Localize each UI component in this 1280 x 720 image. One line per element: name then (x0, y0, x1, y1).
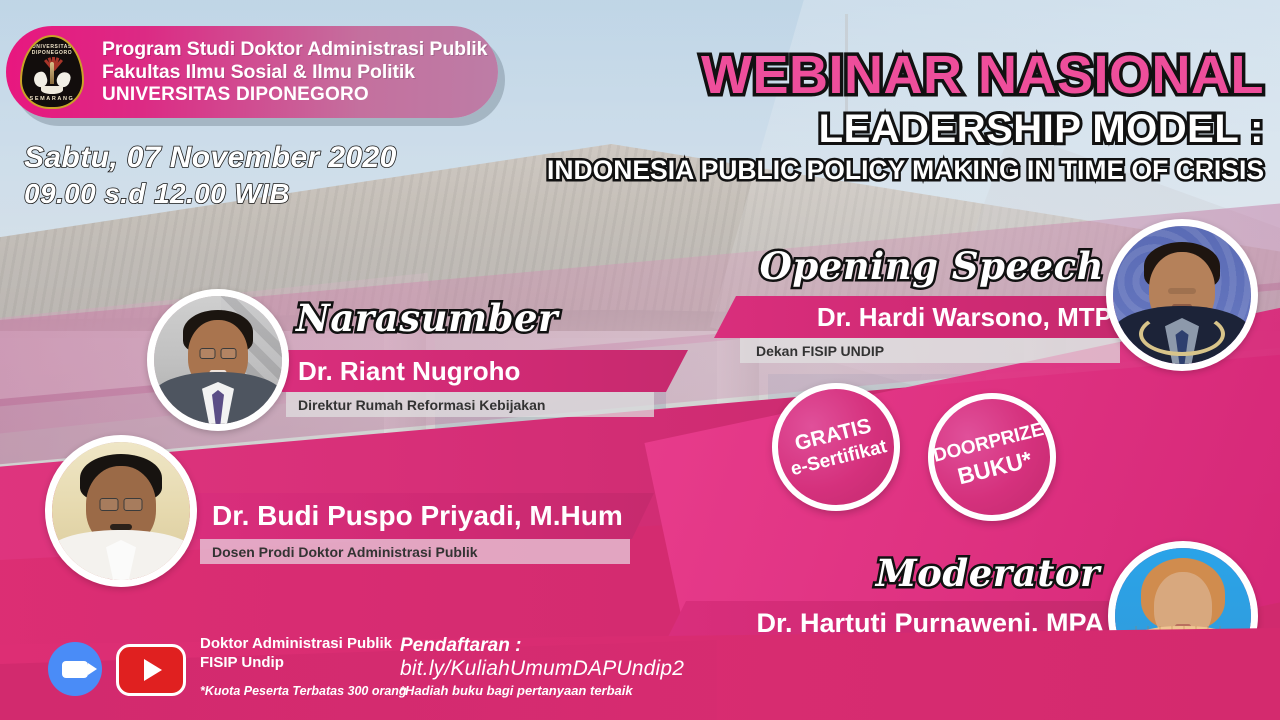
opening-speech-label: Opening Speech (760, 244, 1104, 288)
registration-link[interactable]: bit.ly/KuliahUmumDAPUndip2 (400, 657, 684, 681)
avatar-photo (52, 442, 190, 580)
logo-arc-bottom-text: SEMARANG (22, 96, 82, 102)
play-triangle-glyph (144, 659, 162, 681)
narasumber-name: Dr. Riant Nugroho (298, 356, 520, 387)
shield-icon: UNIVERSITAS DIPONEGORO SEMARANG (20, 35, 84, 109)
avatar-budi-puspo (45, 435, 197, 587)
speaker2-name: Dr. Budi Puspo Priyadi, M.Hum (212, 500, 623, 532)
undip-logo: UNIVERSITAS DIPONEGORO SEMARANG (14, 34, 90, 110)
channel-line-2: FISIP Undip (200, 654, 392, 672)
title-subtitle: INDONESIA PUBLIC POLICY MAKING IN TIME O… (547, 155, 1264, 187)
narasumber-label: Narasumber (296, 296, 558, 340)
event-date: Sabtu, 07 November 2020 (24, 140, 397, 177)
channel-line-1: Doktor Administrasi Publik (200, 635, 392, 653)
main-title: WEBINAR NASIONAL LEADERSHIP MODEL : INDO… (547, 48, 1264, 187)
registration-block: Pendaftaran : bit.ly/KuliahUmumDAPUndip2… (400, 635, 684, 698)
moderator-label: Moderator (876, 551, 1100, 595)
video-camera-glyph (62, 661, 88, 678)
narasumber-name-ribbon: Dr. Riant Nugroho (282, 350, 688, 392)
event-schedule: Sabtu, 07 November 2020 09.00 s.d 12.00 … (24, 140, 397, 211)
avatar-photo (154, 296, 282, 424)
header-line-1: Program Studi Doktor Administrasi Publik (102, 38, 487, 61)
avatar-hardi-warsono (1106, 219, 1258, 371)
speaker2-role-bar: Dosen Prodi Doktor Administrasi Publik (200, 539, 630, 564)
opening-speech-name: Dr. Hardi Warsono, MTP (817, 302, 1112, 333)
title-webinar-nasional: WEBINAR NASIONAL (547, 48, 1264, 102)
avatar-photo (1113, 226, 1251, 364)
avatar-riant-nugroho (147, 289, 289, 431)
registration-note: *Hadiah buku bagi pertanyaan terbaik (400, 683, 684, 698)
header-line-2: Fakultas Ilmu Sosial & Ilmu Politik (102, 61, 487, 84)
logo-emblem (35, 54, 69, 92)
quota-note: *Kuota Peserta Terbatas 300 orang (200, 684, 407, 698)
institution-header: UNIVERSITAS DIPONEGORO SEMARANG Program … (6, 26, 498, 118)
speaker2-name-ribbon: Dr. Budi Puspo Priyadi, M.Hum (196, 493, 654, 539)
header-line-3: UNIVERSITAS DIPONEGORO (102, 84, 487, 106)
webinar-poster: UNIVERSITAS DIPONEGORO SEMARANG Program … (0, 0, 1280, 720)
registration-title: Pendaftaran : (400, 635, 684, 657)
zoom-icon[interactable] (48, 642, 102, 696)
opening-speech-role: Dekan FISIP UNDIP (756, 343, 884, 359)
speaker2-role: Dosen Prodi Doktor Administrasi Publik (212, 544, 478, 560)
title-leadership-model: LEADERSHIP MODEL : (547, 106, 1264, 153)
channel-name: Doktor Administrasi Publik FISIP Undip (200, 635, 392, 672)
event-time: 09.00 s.d 12.00 WIB (24, 177, 397, 211)
opening-speech-name-ribbon: Dr. Hardi Warsono, MTP (714, 296, 1126, 338)
opening-speech-role-bar: Dekan FISIP UNDIP (740, 338, 1120, 363)
institution-text: Program Studi Doktor Administrasi Publik… (102, 38, 487, 106)
youtube-icon[interactable] (116, 644, 186, 696)
narasumber-role: Direktur Rumah Reformasi Kebijakan (298, 397, 545, 413)
narasumber-role-bar: Direktur Rumah Reformasi Kebijakan (286, 392, 654, 417)
